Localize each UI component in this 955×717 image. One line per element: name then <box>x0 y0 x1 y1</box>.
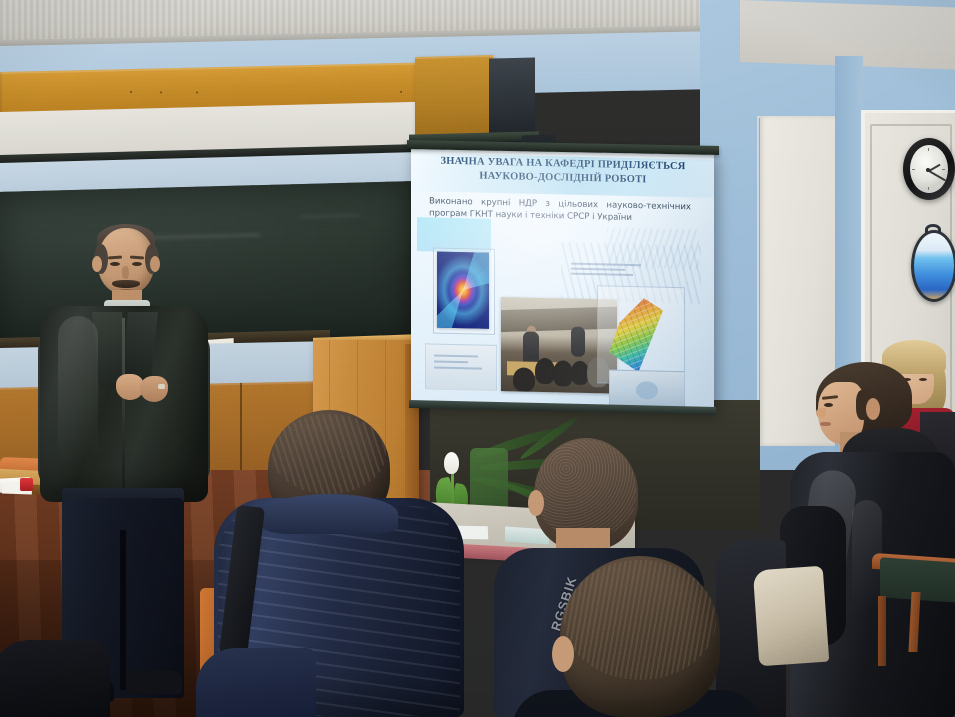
projection-screen: ЗНАЧНА УВАГА НА КАФЕДРІ ПРИДІЛЯЄТЬСЯ НАУ… <box>411 147 714 412</box>
presenter-nose <box>122 266 129 279</box>
student-leather-ear <box>866 398 880 420</box>
student-front-ear <box>552 636 574 672</box>
presenter-ring <box>158 384 165 389</box>
presenter-jacket-zip <box>122 318 125 496</box>
beige-bag[interactable] <box>753 566 830 667</box>
slide-equipment-photo <box>425 343 497 391</box>
red-object-on-desk[interactable] <box>20 478 33 491</box>
foreground-shoulder <box>0 640 110 717</box>
presenter-ear <box>92 256 102 272</box>
student-leather-eye <box>824 403 833 407</box>
presenter-shoe <box>126 670 182 694</box>
fem-contour-plot <box>437 252 489 329</box>
clock-center-pin <box>926 168 930 172</box>
presenter-moustache <box>112 280 140 288</box>
wall-speaker-cabinet <box>415 55 493 142</box>
conference-podium <box>571 327 585 357</box>
presenter-ear <box>150 256 160 272</box>
student-leather-nose <box>816 408 826 418</box>
presenter-eye <box>110 262 120 266</box>
student-hoodie-ear <box>528 490 544 516</box>
right-desk-leg <box>878 596 886 666</box>
oval-wall-picture <box>911 230 955 302</box>
slide-surface: ЗНАЧНА УВАГА НА КАФЕДРІ ПРИДІЛЯЄТЬСЯ НАУ… <box>411 147 714 412</box>
slide-small-photo <box>609 369 685 409</box>
student-leather-lips <box>820 422 831 426</box>
presenter-jacket-highlight <box>58 316 98 466</box>
presenter-leg-gap <box>120 530 126 690</box>
presenter-hand <box>140 376 168 402</box>
presenter-eye <box>132 262 142 266</box>
student-blue-hair-texture <box>272 414 386 494</box>
tulip-flower <box>444 452 459 474</box>
student-front-hair-texture <box>564 560 716 680</box>
student-hoodie-stubble <box>536 440 636 536</box>
student-blue-hood <box>262 494 398 534</box>
woman-eye <box>919 378 927 381</box>
lecture-hall-photo: ЗНАЧНА УВАГА НА КАФЕДРІ ПРИДІЛЯЄТЬСЯ НАУ… <box>0 0 955 717</box>
foreground-person-blue <box>196 648 316 717</box>
door-seam <box>759 118 760 418</box>
